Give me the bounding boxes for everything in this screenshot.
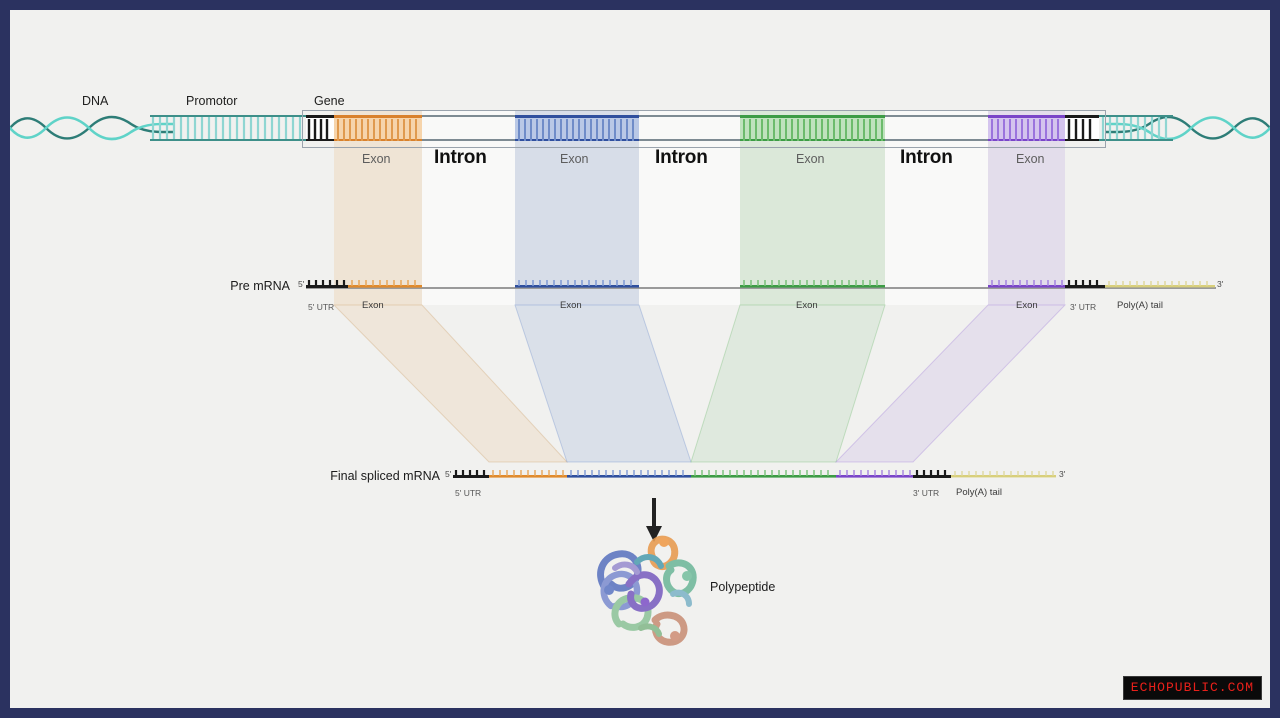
caption-exon-4: Exon [1016, 152, 1045, 166]
pre-mrna-utr3-label: 3' UTR [1070, 302, 1096, 312]
caption-intron-1: Intron [434, 147, 487, 169]
pre-mrna-exon-1-label: Exon [362, 300, 384, 311]
caption-exon-1: Exon [362, 152, 391, 166]
label-pre-mrna: Pre mRNA [130, 279, 290, 293]
gene-bracket [302, 110, 1106, 148]
final-mrna-5prime: 5' [445, 469, 451, 479]
label-final-mrna: Final spliced mRNA [275, 469, 440, 483]
watermark: ECHOPUBLIC.COM [1123, 676, 1262, 700]
pre-mrna-exon-3-label: Exon [796, 300, 818, 311]
final-mrna-3prime: 3' [1059, 469, 1065, 479]
caption-exon-2: Exon [560, 152, 589, 166]
dna-downstream-segment [1099, 115, 1173, 141]
pre-mrna-5prime: 5' [298, 279, 304, 289]
dna-row [10, 110, 1270, 146]
pre-mrna-polya-label: Poly(A) tail [1117, 300, 1163, 311]
pre-mrna-exon-4-label: Exon [1016, 300, 1038, 311]
final-mrna-utr3-label: 3' UTR [913, 488, 939, 498]
diagram-canvas: DNA Promotor Gene [10, 10, 1270, 708]
caption-exon-3: Exon [796, 152, 825, 166]
final-mrna-utr5-label: 5' UTR [455, 488, 481, 498]
caption-intron-2: Intron [655, 147, 708, 169]
pre-mrna-strand [306, 276, 1216, 292]
caption-intron-3: Intron [900, 147, 953, 169]
pre-mrna-3prime: 3' [1217, 279, 1223, 289]
label-dna: DNA [82, 94, 108, 108]
label-gene: Gene [314, 94, 345, 108]
pre-mrna-exon-2-label: Exon [560, 300, 582, 311]
dna-promotor-segment [150, 115, 306, 141]
final-mrna-polya-label: Poly(A) tail [956, 487, 1002, 498]
pre-mrna-utr5-label: 5' UTR [308, 302, 334, 312]
label-promotor: Promotor [186, 94, 237, 108]
final-mrna-strand [453, 466, 1059, 482]
label-polypeptide: Polypeptide [710, 580, 775, 594]
polypeptide-structure [585, 528, 715, 648]
